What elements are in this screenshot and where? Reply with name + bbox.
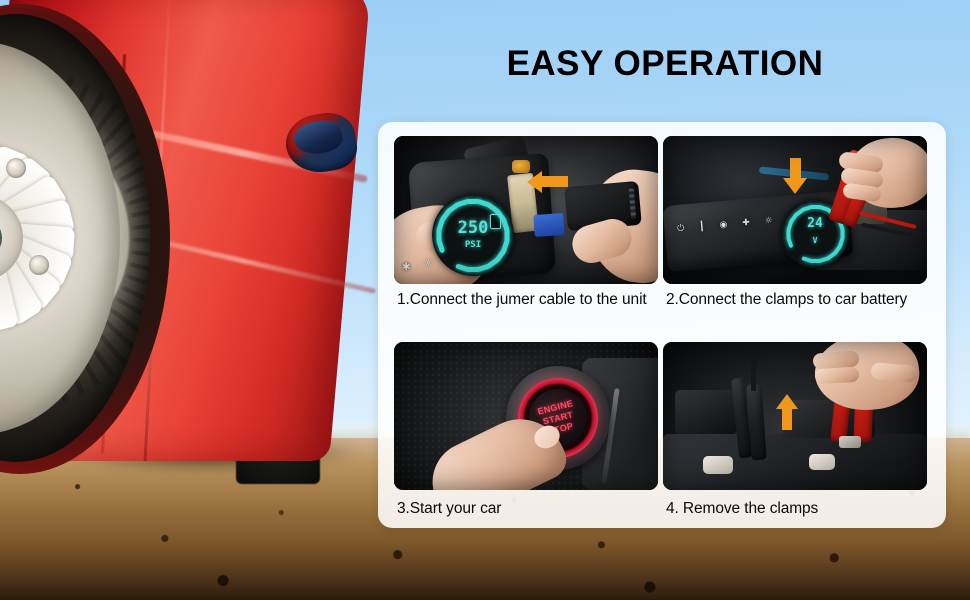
battery-cap	[703, 456, 733, 474]
plus-icon: ✚	[742, 218, 750, 229]
step-4-caption: 4. Remove the clamps	[663, 490, 927, 530]
arrow-left-shaft	[542, 176, 568, 187]
led-ring-display-1: 250 PSI	[432, 194, 514, 276]
steps-grid: 250 PSI ✱ ☼ 1.Connect the jumer cable to…	[394, 136, 930, 530]
battery-icon	[490, 214, 501, 229]
light-icon: ☼	[764, 216, 773, 227]
step-item-1: 250 PSI ✱ ☼ 1.Connect the jumer cable to…	[394, 136, 658, 336]
step-item-4: 4. Remove the clamps	[663, 342, 927, 530]
led-segment	[801, 256, 813, 263]
mode-icon: ┃	[699, 222, 705, 232]
arrow-up-shaft	[782, 408, 792, 430]
engine-bay-part	[675, 390, 737, 434]
flashlight-icon: ✱	[402, 262, 410, 273]
arrow-down-icon	[783, 178, 807, 194]
battery-cap	[809, 454, 835, 470]
clamp-tip	[839, 436, 861, 448]
step-item-2: ⏻ ┃ ◉ ✚ ☼ 24 V	[663, 136, 927, 336]
step-1-photo[interactable]: 250 PSI ✱ ☼	[394, 136, 658, 284]
step-3-caption: 3.Start your car	[394, 490, 658, 530]
step-1-caption: 1.Connect the jumer cable to the unit	[394, 284, 658, 336]
step-2-caption: 2.Connect the clamps to car battery	[663, 284, 927, 336]
step-2-photo[interactable]: ⏻ ┃ ◉ ✚ ☼ 24 V	[663, 136, 927, 284]
power-icon: ⏻	[677, 224, 685, 235]
marketing-banner: EASY OPERATION	[0, 0, 970, 600]
step-3-photo[interactable]: ENGINE START STOP	[394, 342, 658, 490]
light-mode-icon: ☼	[424, 258, 433, 269]
blue-plug	[533, 213, 564, 237]
step-item-3: ENGINE START STOP 3.Start your car	[394, 342, 658, 530]
arrow-left-icon	[527, 171, 542, 193]
page-title: EASY OPERATION	[380, 44, 950, 84]
lug-nut	[29, 255, 49, 275]
step-4-photo[interactable]	[663, 342, 927, 490]
steps-card: 250 PSI ✱ ☼ 1.Connect the jumer cable to…	[378, 122, 946, 528]
led-segment	[455, 263, 470, 272]
arrow-down-shaft	[790, 158, 801, 180]
arrow-up-icon	[776, 394, 798, 409]
usb-icon: ◉	[719, 220, 728, 231]
finger	[815, 367, 860, 384]
